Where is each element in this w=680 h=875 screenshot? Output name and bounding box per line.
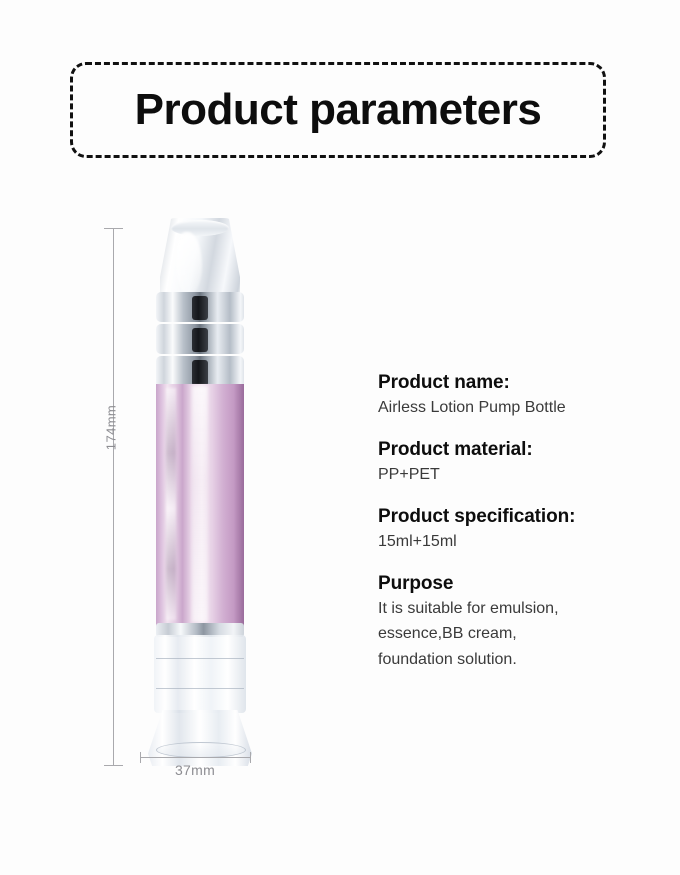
spec-heading-product-name: Product name: <box>378 372 653 394</box>
spec-product-material: Product material: PP+PET <box>378 439 653 484</box>
height-dimension-cap-top <box>104 228 123 229</box>
spec-value-product-specification: 15ml+15ml <box>378 533 653 551</box>
spec-value-product-name: Airless Lotion Pump Bottle <box>378 399 653 417</box>
spec-value-product-material: PP+PET <box>378 466 653 484</box>
spec-product-name: Product name: Airless Lotion Pump Bottle <box>378 372 653 417</box>
product-figure: 174mm 37mm <box>90 210 370 800</box>
spec-heading-product-material: Product material: <box>378 439 653 461</box>
barrel-seam-upper <box>156 658 244 659</box>
pump-stem-upper <box>192 296 208 320</box>
bottle-cap-top-face <box>171 220 229 236</box>
spec-heading-product-specification: Product specification: <box>378 506 653 528</box>
bottle-base-inner-ring <box>156 742 246 758</box>
purpose-line-1: It is suitable for emulsion, <box>378 600 653 618</box>
airless-lotion-pump-bottle-image <box>130 218 270 766</box>
title-banner: Product parameters <box>70 62 606 158</box>
bottle-body-highlight-left <box>166 388 176 620</box>
pump-stem-middle <box>192 328 208 352</box>
specification-list: Product name: Airless Lotion Pump Bottle… <box>378 372 653 669</box>
spec-purpose: Purpose It is suitable for emulsion, ess… <box>378 573 653 669</box>
page-title: Product parameters <box>135 85 542 135</box>
spec-product-specification: Product specification: 15ml+15ml <box>378 506 653 551</box>
height-dimension-cap-bottom <box>104 765 123 766</box>
barrel-seam-lower <box>156 688 244 689</box>
height-dimension-label: 174mm <box>104 388 119 468</box>
pump-stem-lower <box>192 360 208 386</box>
width-dimension-cap-right <box>250 752 251 763</box>
purpose-line-2: essence,BB cream, <box>378 625 653 643</box>
spec-heading-purpose: Purpose <box>378 573 653 595</box>
bottle-pump-collar <box>156 292 244 388</box>
height-dimension-line <box>113 228 114 765</box>
bottle-clear-barrel <box>154 635 246 713</box>
width-dimension-line <box>140 757 250 758</box>
bottle-body-highlight-center <box>192 386 208 622</box>
width-dimension-label: 37mm <box>140 762 250 778</box>
purpose-line-3: foundation solution. <box>378 651 653 669</box>
bottle-body-shadow-right <box>234 384 244 627</box>
